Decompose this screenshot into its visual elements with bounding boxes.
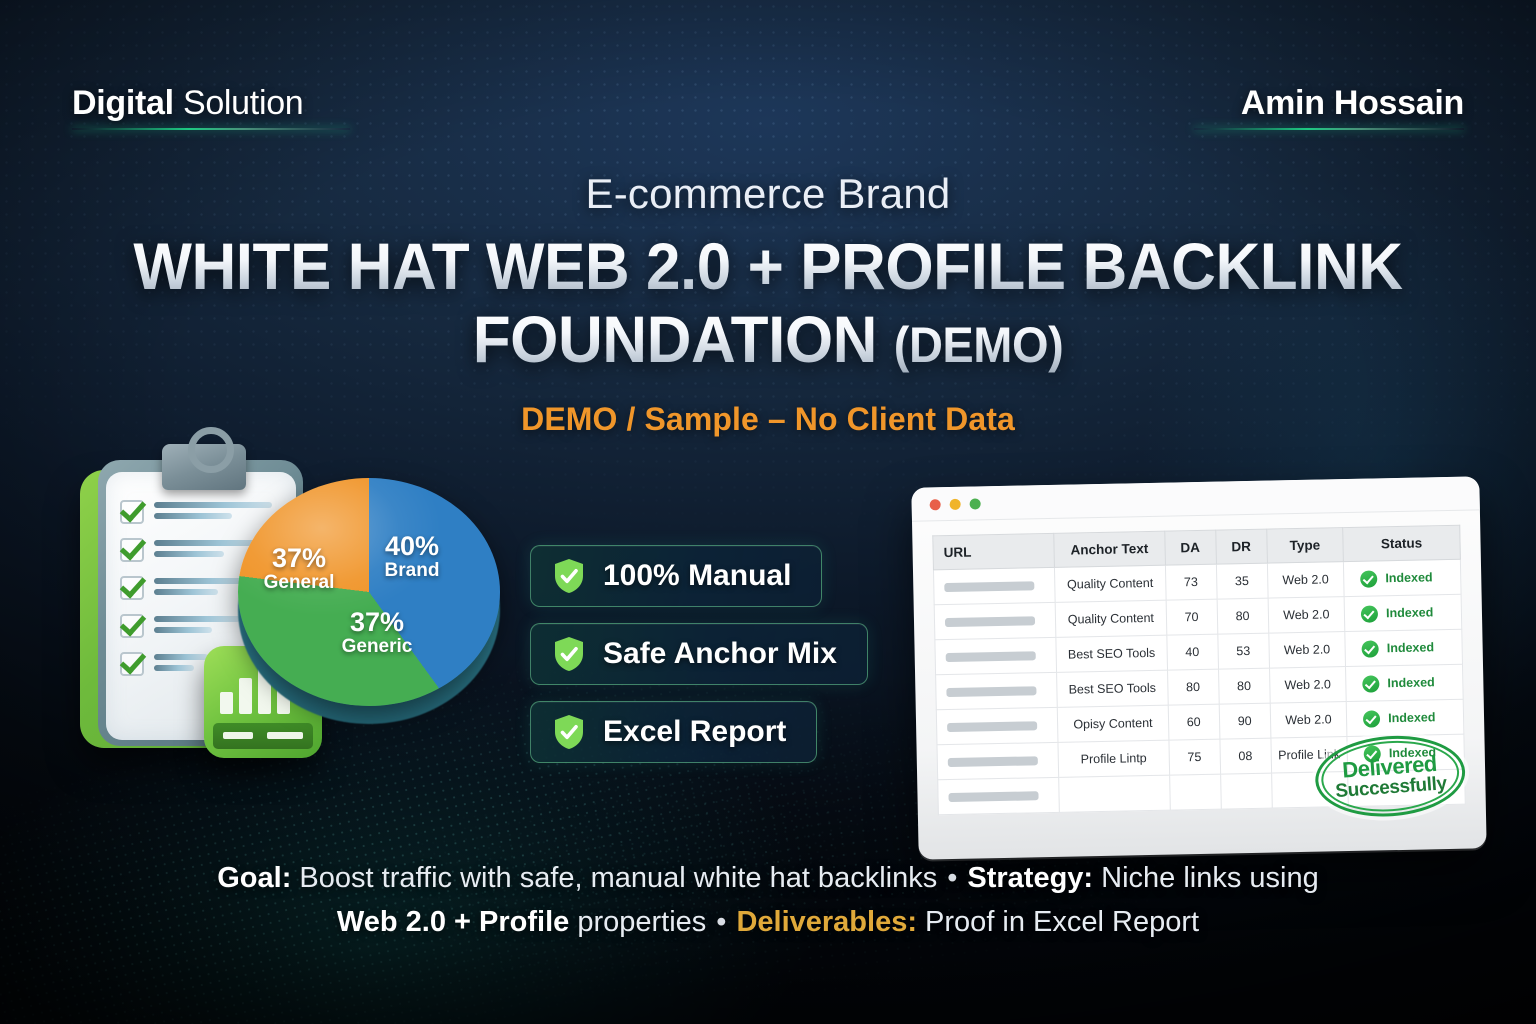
feature-pill-label: Safe Anchor Mix xyxy=(603,637,837,671)
status-badge: Indexed xyxy=(1360,568,1454,587)
pie-slice-label-generic: 37% Generic xyxy=(322,608,432,658)
url-redacted-bar xyxy=(947,721,1037,732)
status-label: Indexed xyxy=(1385,570,1433,585)
cell-dr: 35 xyxy=(1216,563,1268,599)
checklist-line xyxy=(154,551,224,557)
footer-deliverables-label: Deliverables: xyxy=(736,906,917,938)
cell-da xyxy=(1169,774,1221,810)
footer-properties-text: properties xyxy=(569,906,706,938)
checklist-line xyxy=(154,513,232,519)
cell-type: Web 2.0 xyxy=(1268,597,1345,634)
page-title-line1: WHITE HAT WEB 2.0 + PROFILE BACKLINK xyxy=(46,232,1490,301)
cell-dr: 53 xyxy=(1217,633,1269,669)
shield-check-icon xyxy=(553,636,585,672)
status-badge: Indexed xyxy=(1362,638,1456,657)
title-eyebrow: E-commerce Brand xyxy=(0,170,1536,218)
shield-check-icon xyxy=(553,714,585,750)
column-header-status[interactable]: Status xyxy=(1343,525,1461,561)
cell-status: Indexed xyxy=(1344,559,1462,596)
feature-pill-anchor-mix[interactable]: Safe Anchor Mix xyxy=(530,623,868,685)
cell-anchor-text: Quality Content xyxy=(1055,565,1166,602)
cell-url xyxy=(933,567,1055,604)
brand-logo-bold: Digital xyxy=(72,84,174,122)
cell-dr: 80 xyxy=(1217,598,1269,634)
check-circle-icon xyxy=(1361,605,1378,622)
window-maximize-button[interactable] xyxy=(970,498,981,509)
check-icon xyxy=(120,500,144,524)
brand-logo-light: Solution xyxy=(174,84,304,122)
cell-anchor-text xyxy=(1059,775,1170,812)
pie-slice-value-brand: 40% xyxy=(362,532,462,560)
pie-slice-name-generic: Generic xyxy=(322,636,432,658)
status-badge: Indexed xyxy=(1361,603,1455,622)
cell-status: Indexed xyxy=(1346,664,1464,701)
cell-status: Indexed xyxy=(1345,629,1463,666)
window-close-button[interactable] xyxy=(930,499,941,510)
cell-type: Web 2.0 xyxy=(1267,562,1344,599)
cell-da: 73 xyxy=(1165,564,1217,600)
status-badge: Indexed xyxy=(1363,708,1457,727)
author-name-text: Amin Hossain xyxy=(1241,84,1464,122)
footer-goal-text: Boost traffic with safe, manual white ha… xyxy=(291,862,937,894)
check-icon xyxy=(120,576,144,600)
page-title-demo-suffix: (DEMO) xyxy=(894,317,1063,373)
delivered-successfully-stamp: Delivered Successfully xyxy=(1313,731,1468,822)
checklist-line xyxy=(154,654,208,660)
footer-strategy-text: Niche links using xyxy=(1093,862,1319,894)
status-badge: Indexed xyxy=(1362,673,1456,692)
status-label: Indexed xyxy=(1387,640,1435,655)
window-minimize-button[interactable] xyxy=(950,499,961,510)
checklist-line xyxy=(154,627,212,633)
check-icon xyxy=(120,538,144,562)
cell-anchor-text: Best SEO Tools xyxy=(1057,670,1168,707)
status-label: Indexed xyxy=(1387,675,1435,690)
cell-da: 70 xyxy=(1166,599,1218,635)
cell-dr: 08 xyxy=(1220,738,1272,774)
brand-underline-left xyxy=(72,128,350,130)
cell-da: 40 xyxy=(1166,634,1218,670)
pie-slice-name-general: General xyxy=(244,572,354,594)
pie-slice-value-generic: 37% xyxy=(322,608,432,636)
cell-type: Web 2.0 xyxy=(1270,702,1347,739)
check-circle-icon xyxy=(1360,570,1377,587)
cell-type: Web 2.0 xyxy=(1268,632,1345,669)
column-header-anchor-text[interactable]: Anchor Text xyxy=(1054,531,1165,567)
page-header: Digital Solution Amin Hossain xyxy=(0,0,1536,148)
check-circle-icon xyxy=(1363,710,1380,727)
cell-da: 60 xyxy=(1168,704,1220,740)
footer-properties-bold: Web 2.0 + Profile xyxy=(337,906,569,938)
check-circle-icon xyxy=(1362,640,1379,657)
pie-slice-label-brand: 40% Brand xyxy=(362,532,462,582)
page-title-line2-main: FOUNDATION xyxy=(473,302,877,376)
column-header-url[interactable]: URL xyxy=(933,533,1055,569)
footer-separator: • xyxy=(706,906,736,938)
footer-separator: • xyxy=(937,862,967,894)
cell-dr: 80 xyxy=(1218,668,1270,704)
brand-logo-text: Digital Solution xyxy=(72,84,303,123)
feature-list: 100% Manual Safe Anchor Mix Excel Report xyxy=(530,545,868,779)
cell-da: 75 xyxy=(1169,739,1221,775)
brand-underline-right xyxy=(1194,128,1464,130)
cell-anchor-text: Best SEO Tools xyxy=(1056,635,1167,672)
brand-logo: Digital Solution xyxy=(72,84,303,123)
check-circle-icon xyxy=(1362,675,1379,692)
cell-dr: 90 xyxy=(1219,703,1271,739)
browser-window: URL Anchor Text DA DR Type Status Qualit… xyxy=(911,476,1486,859)
check-icon xyxy=(120,652,144,676)
checklist-line xyxy=(154,589,218,595)
shield-check-icon xyxy=(553,558,585,594)
feature-pill-label: 100% Manual xyxy=(603,559,791,593)
cell-url xyxy=(934,602,1056,639)
cell-anchor-text: Opisy Content xyxy=(1057,705,1168,742)
cell-type: Web 2.0 xyxy=(1269,667,1346,704)
url-redacted-bar xyxy=(944,581,1034,592)
cell-da: 80 xyxy=(1167,669,1219,705)
stamp-text: Delivered Successfully xyxy=(1313,731,1468,822)
feature-pill-excel-report[interactable]: Excel Report xyxy=(530,701,817,763)
author-name: Amin Hossain xyxy=(1241,84,1464,123)
cell-url xyxy=(936,707,1058,744)
cell-status: Indexed xyxy=(1344,594,1462,631)
url-redacted-bar xyxy=(948,756,1038,767)
feature-pill-manual[interactable]: 100% Manual xyxy=(530,545,822,607)
pie-slice-label-general: 37% General xyxy=(244,544,354,594)
page-title-line2: FOUNDATION (DEMO) xyxy=(46,305,1490,374)
footer-line-2: Web 2.0 + Profile properties•Deliverable… xyxy=(0,900,1536,944)
pie-slice-name-brand: Brand xyxy=(362,560,462,582)
footer-deliverables-text: Proof in Excel Report xyxy=(917,906,1199,938)
column-header-type[interactable]: Type xyxy=(1266,528,1343,564)
anchor-distribution-pie-chart: 40% Brand 37% Generic 37% General xyxy=(226,460,516,740)
footer-strategy-label: Strategy: xyxy=(967,862,1093,894)
illustration-group: 40% Brand 37% Generic 37% General xyxy=(62,418,532,788)
cell-status: Indexed xyxy=(1346,699,1464,736)
author-block: Amin Hossain xyxy=(1241,84,1464,123)
title-block: E-commerce Brand WHITE HAT WEB 2.0 + PRO… xyxy=(0,170,1536,438)
url-redacted-bar xyxy=(948,791,1038,802)
feature-pill-label: Excel Report xyxy=(603,715,786,749)
url-redacted-bar xyxy=(945,616,1035,627)
check-icon xyxy=(120,614,144,638)
url-redacted-bar xyxy=(946,686,1036,697)
status-label: Indexed xyxy=(1386,605,1434,620)
page-footer: Goal: Boost traffic with safe, manual wh… xyxy=(0,856,1536,944)
cell-url xyxy=(935,637,1057,674)
footer-line-1: Goal: Boost traffic with safe, manual wh… xyxy=(0,856,1536,900)
cell-url xyxy=(938,777,1060,814)
cell-url xyxy=(936,672,1058,709)
cell-url xyxy=(937,742,1059,779)
column-header-da[interactable]: DA xyxy=(1164,530,1216,565)
cell-anchor-text: Quality Content xyxy=(1055,600,1166,637)
status-label: Indexed xyxy=(1388,710,1436,725)
cell-anchor-text: Profile Lintp xyxy=(1058,740,1169,777)
cell-dr xyxy=(1220,773,1272,809)
checklist-line xyxy=(154,665,194,671)
footer-goal-label: Goal: xyxy=(217,862,291,894)
pie-slice-value-general: 37% xyxy=(244,544,354,572)
column-header-dr[interactable]: DR xyxy=(1215,529,1267,564)
url-redacted-bar xyxy=(946,651,1036,662)
